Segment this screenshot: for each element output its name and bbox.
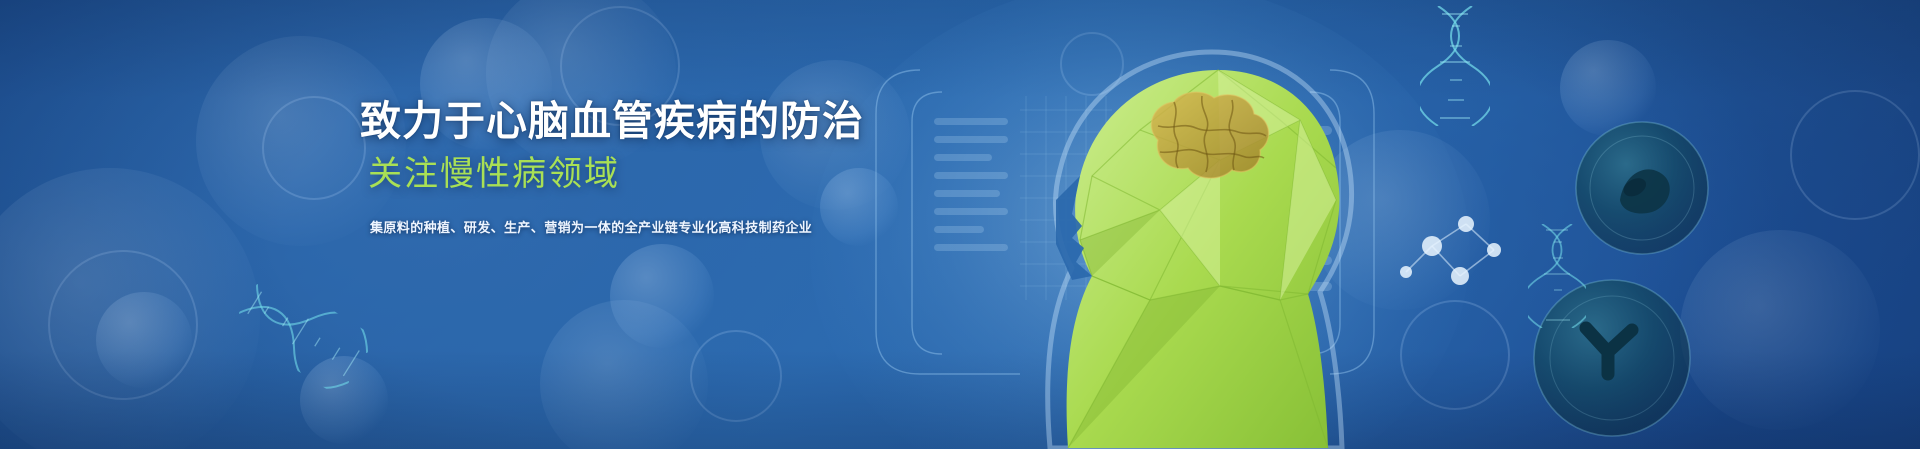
bokeh-circle: [1060, 32, 1124, 96]
bokeh-circle: [1790, 90, 1920, 220]
cell-top-right: [1576, 122, 1708, 254]
bokeh-circle: [1310, 130, 1490, 310]
hud-panel-right-rows: [1280, 126, 1332, 291]
bokeh-circle: [690, 330, 782, 422]
banner-caption: 集原料的种植、研发、生产、营销为一体的全产业链专业化高科技制药企业: [370, 218, 1000, 238]
bokeh-circle: [96, 292, 192, 388]
antibody-icon: [1586, 328, 1632, 374]
face-profile: [1056, 176, 1092, 280]
bokeh-circle: [48, 250, 198, 400]
bokeh-circle: [610, 244, 714, 348]
dna-helix-right: [1528, 224, 1586, 328]
bokeh-circle: [262, 96, 366, 200]
low-poly-head: [1067, 70, 1340, 448]
banner-copy: 致力于心脑血管疾病的防治 关注慢性病领域 集原料的种植、研发、生产、营销为一体的…: [360, 96, 1000, 238]
brain-illustration: [1151, 92, 1268, 178]
low-poly-head-facets: [1068, 70, 1336, 448]
bokeh-circle: [300, 356, 388, 444]
bokeh-circle: [1680, 230, 1880, 430]
hero-banner: 致力于心脑血管疾病的防治 关注慢性病领域 集原料的种植、研发、生产、营销为一体的…: [0, 0, 1920, 449]
headline-emphasis: 心脑血管疾病: [486, 98, 738, 144]
banner-headline: 致力于心脑血管疾病的防治: [360, 96, 1000, 146]
bokeh-circle: [1140, 250, 1260, 370]
low-poly-head-highlights: [1160, 70, 1336, 300]
headline-suffix: 的防治: [738, 98, 864, 144]
hud-grid-left: [1020, 96, 1112, 300]
head-outline: [1048, 52, 1352, 448]
cell-bottom-right: [1534, 280, 1690, 436]
dna-helix-bottom-left: [229, 269, 376, 397]
dna-helix-top-right: [1420, 6, 1490, 126]
molecule-node-cluster: [1400, 216, 1501, 285]
banner-subheadline: 关注慢性病领域: [368, 152, 1000, 196]
bokeh-circle: [540, 300, 708, 449]
hud-panel-right: [1310, 70, 1374, 374]
low-poly-head-shadows: [1068, 210, 1220, 448]
bokeh-circle: [1560, 40, 1656, 136]
bokeh-circle: [0, 168, 260, 449]
bokeh-circle: [1400, 300, 1510, 410]
headline-prefix: 致力于: [360, 98, 486, 144]
